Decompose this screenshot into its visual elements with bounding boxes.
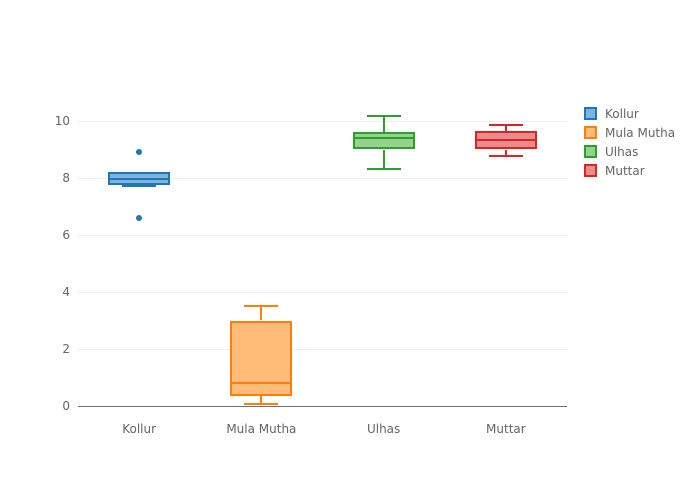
legend: KollurMula MuthaUlhasMuttar <box>584 104 694 180</box>
x-tick-label: Mula Mutha <box>226 422 296 436</box>
box-plot-group[interactable] <box>200 121 322 406</box>
legend-swatch-icon <box>584 145 597 158</box>
y-tick-label: 10 <box>55 114 70 128</box>
whisker-upper <box>383 115 385 132</box>
legend-item[interactable]: Muttar <box>584 161 694 180</box>
x-tick-label: Kollur <box>122 422 156 436</box>
box-plot-group[interactable] <box>323 121 445 406</box>
legend-swatch-icon <box>584 107 597 120</box>
box-iqr[interactable] <box>353 132 415 150</box>
box-iqr[interactable] <box>230 321 292 397</box>
legend-label: Ulhas <box>605 145 638 159</box>
y-tick-label: 6 <box>62 228 70 242</box>
box-plot-group[interactable] <box>445 121 567 406</box>
legend-swatch-icon <box>584 164 597 177</box>
whisker-cap-upper <box>367 115 401 117</box>
legend-label: Kollur <box>605 107 639 121</box>
y-axis-tick-labels: 0246810 <box>0 0 70 500</box>
legend-item[interactable]: Mula Mutha <box>584 123 694 142</box>
whisker-lower <box>260 396 262 403</box>
legend-swatch-icon <box>584 126 597 139</box>
outlier-point[interactable] <box>136 215 142 221</box>
whisker-lower <box>383 150 385 169</box>
legend-item[interactable]: Kollur <box>584 104 694 123</box>
whisker-cap-lower <box>367 168 401 170</box>
x-axis-line <box>78 406 567 407</box>
median-line <box>230 382 292 384</box>
whisker-upper <box>260 305 262 321</box>
legend-label: Mula Mutha <box>605 126 675 140</box>
y-tick-label: 0 <box>62 399 70 413</box>
whisker-cap-lower <box>122 185 156 187</box>
box-plot-group[interactable] <box>78 121 200 406</box>
y-tick-label: 8 <box>62 171 70 185</box>
legend-label: Muttar <box>605 164 645 178</box>
outlier-point[interactable] <box>136 149 142 155</box>
whisker-cap-lower <box>489 155 523 157</box>
median-line <box>353 137 415 139</box>
y-tick-label: 2 <box>62 342 70 356</box>
legend-item[interactable]: Ulhas <box>584 142 694 161</box>
x-tick-label: Muttar <box>486 422 526 436</box>
whisker-cap-upper <box>489 124 523 126</box>
x-tick-label: Ulhas <box>367 422 400 436</box>
y-tick-label: 4 <box>62 285 70 299</box>
whisker-cap-upper <box>244 305 278 307</box>
box-plot-figure: 0246810 KollurMula MuthaUlhasMuttar Koll… <box>0 0 700 500</box>
median-line <box>108 178 170 180</box>
whisker-cap-lower <box>244 403 278 405</box>
median-line <box>475 139 537 141</box>
plot-area <box>78 121 567 406</box>
